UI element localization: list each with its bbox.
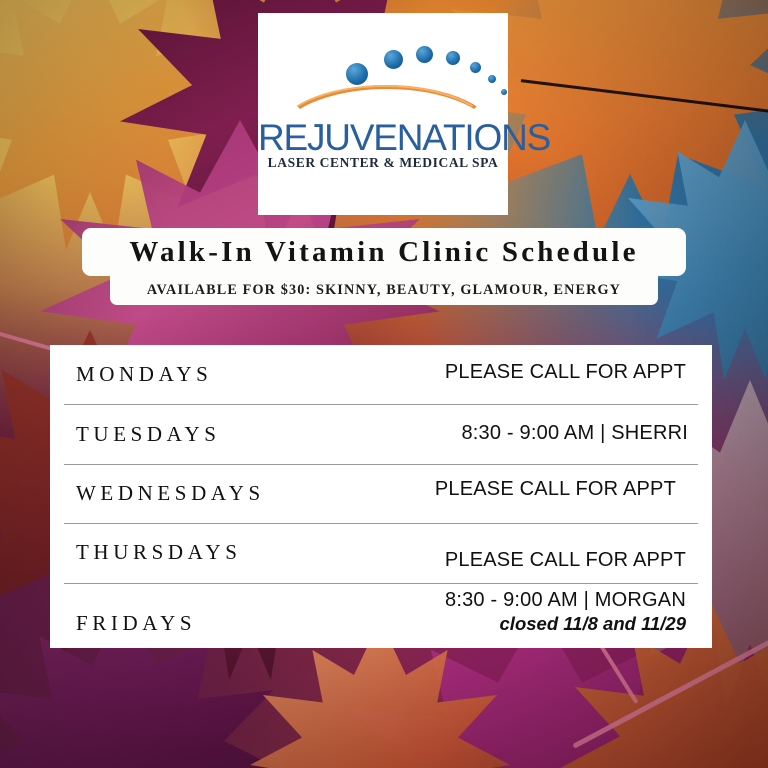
logo-brand-name: REJUVENATIONS [258, 119, 508, 156]
schedule-row-thursdays: THURSDAYS PLEASE CALL FOR APPT [50, 523, 712, 582]
logo-dot-1 [346, 63, 368, 85]
day-label: FRIDAYS [76, 611, 196, 636]
subtitle-banner: AVAILABLE FOR $30: SKINNY, BEAUTY, GLAMO… [110, 276, 658, 305]
day-label: WEDNESDAYS [76, 481, 265, 506]
logo-dot-7 [501, 89, 507, 95]
page-subtitle: AVAILABLE FOR $30: SKINNY, BEAUTY, GLAMO… [147, 282, 621, 299]
page-title: Walk-In Vitamin Clinic Schedule [129, 236, 638, 269]
schedule-panel: MONDAYS PLEASE CALL FOR APPT TUESDAYS 8:… [50, 345, 712, 648]
schedule-row-fridays: FRIDAYS 8:30 - 9:00 AM | MORGAN closed 1… [50, 583, 712, 648]
logo-dot-2 [384, 50, 403, 69]
day-label: MONDAYS [76, 362, 212, 387]
title-banner: Walk-In Vitamin Clinic Schedule [82, 228, 686, 276]
day-value: 8:30 - 9:00 AM | MORGAN closed 11/8 and … [445, 589, 686, 635]
day-value-time: 8:30 - 9:00 AM | MORGAN [445, 589, 686, 611]
poster-canvas: REJUVENATIONS LASER CENTER & MEDICAL SPA… [0, 0, 768, 768]
logo-card: REJUVENATIONS LASER CENTER & MEDICAL SPA [258, 13, 508, 215]
logo-tagline: LASER CENTER & MEDICAL SPA [258, 156, 508, 170]
logo-dot-5 [470, 62, 481, 73]
day-value-note: closed 11/8 and 11/29 [445, 613, 686, 635]
schedule-row-wednesdays: WEDNESDAYS PLEASE CALL FOR APPT [50, 464, 712, 523]
logo-dot-3 [416, 46, 433, 63]
day-value: 8:30 - 9:00 AM | SHERRI [461, 422, 688, 446]
day-value: PLEASE CALL FOR APPT [445, 361, 686, 385]
day-label: THURSDAYS [76, 540, 242, 565]
logo-dot-4 [446, 51, 460, 65]
day-label: TUESDAYS [76, 422, 221, 447]
day-value: PLEASE CALL FOR APPT [445, 549, 686, 573]
day-value: PLEASE CALL FOR APPT [435, 478, 676, 502]
schedule-row-mondays: MONDAYS PLEASE CALL FOR APPT [50, 345, 712, 404]
schedule-row-tuesdays: TUESDAYS 8:30 - 9:00 AM | SHERRI [50, 404, 712, 463]
logo-dot-6 [488, 75, 496, 83]
